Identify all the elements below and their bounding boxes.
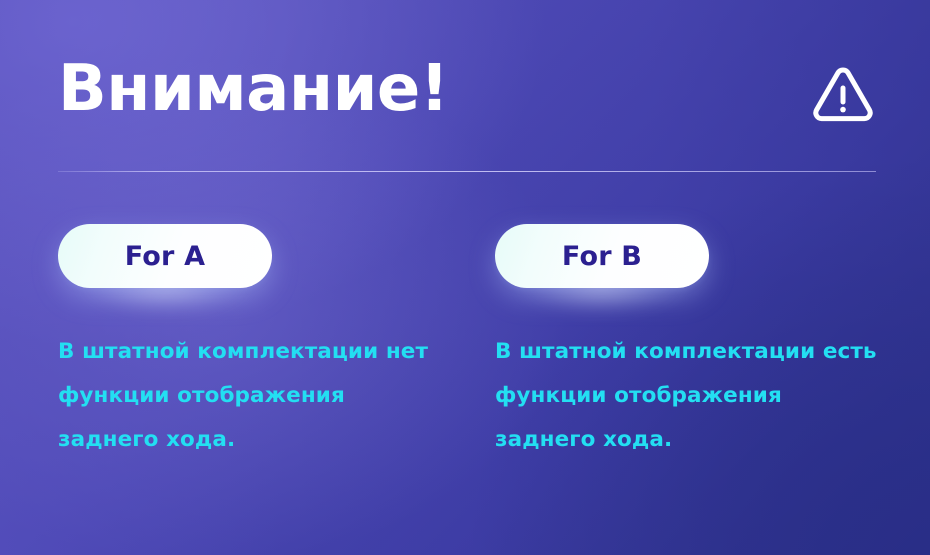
pill-wrap-for-a: For A [58, 224, 272, 288]
column-for-a-body: В штатной комплектации нет функции отобр… [58, 330, 443, 462]
column-for-a: For A В штатной комплектации нет функции… [58, 224, 458, 288]
pill-wrap-for-b: For B [495, 224, 709, 288]
button-for-a[interactable]: For A [58, 224, 272, 288]
button-for-a-label: For A [125, 243, 206, 270]
slide-content: Внимание! For A В штатной комплектации н… [0, 0, 930, 555]
warning-slide: Внимание! For A В штатной комплектации н… [0, 0, 930, 555]
comparison-columns: For A В штатной комплектации нет функции… [0, 0, 930, 555]
column-for-b-body: В штатной комплектации есть функции отоб… [495, 330, 887, 462]
button-for-b[interactable]: For B [495, 224, 709, 288]
column-for-b: For B В штатной комплектации есть функци… [495, 224, 895, 288]
button-for-b-label: For B [562, 243, 642, 270]
